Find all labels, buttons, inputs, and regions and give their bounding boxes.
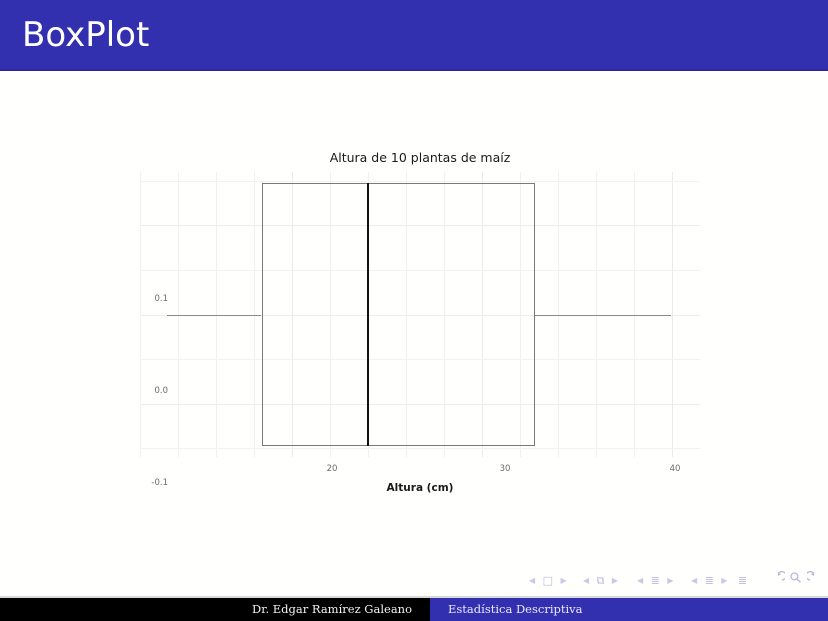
x-tick-label-2: 40 [657,464,693,474]
boxplot-box [262,183,535,447]
slide-footer: Dr. Edgar Ramírez Galeano Estadística De… [0,598,828,621]
boxplot-whisker-high [535,315,672,316]
search-icon[interactable] [789,571,802,589]
nav-next-frame-arrow-icon[interactable]: ▶ [609,571,621,591]
nav-prev-slide-arrow-icon[interactable]: ◀ [526,571,538,591]
page-title: BoxPlot [22,14,149,56]
footer-subject-label: Estadística Descriptiva [448,602,583,616]
x-tick-label-0: 20 [314,464,350,474]
x-tick-label-1: 30 [487,464,523,474]
nav-prev-subsection-arrow-icon[interactable]: ◀ [634,571,646,591]
plot-area [140,172,700,457]
nav-group-slide[interactable]: ◀ □ ▶ [526,571,570,591]
x-axis-label: Altura (cm) [140,482,700,494]
y-tick-label-1: 0.0 [134,386,168,396]
slide-body: Altura de 10 plantas de maíz 0.1 0.0 -0.… [0,71,828,569]
nav-prev-section-arrow-icon[interactable]: ◀ [688,571,700,591]
forward-icon[interactable] [807,571,820,589]
nav-prev-frame-arrow-icon[interactable]: ◀ [580,571,592,591]
slide-nav-icon[interactable]: □ [543,571,553,591]
nav-group-frame[interactable]: ◀ ⧉ ▶ [580,571,621,591]
nav-group-subsection[interactable]: ◀ ≣ ▶ [634,571,676,591]
nav-next-slide-arrow-icon[interactable]: ▶ [557,571,569,591]
presentation-nav-icon[interactable]: ≣ [738,571,747,591]
frame-nav-icon[interactable]: ⧉ [597,571,605,591]
nav-next-subsection-arrow-icon[interactable]: ▶ [664,571,676,591]
back-icon[interactable] [772,571,785,589]
nav-group-history[interactable] [772,571,820,591]
subsection-nav-icon[interactable]: ≣ [651,571,660,591]
boxplot-median-line [367,183,369,447]
section-nav-icon[interactable]: ≣ [705,571,714,591]
nav-next-section-arrow-icon[interactable]: ▶ [718,571,730,591]
chart-title: Altura de 10 plantas de maíz [140,150,700,165]
boxplot-whisker-low [167,315,262,316]
footer-author-label: Dr. Edgar Ramírez Galeano [252,602,412,616]
y-gridline [140,448,700,449]
nav-group-section[interactable]: ◀ ≣ ▶ [688,571,730,591]
slide-header: BoxPlot [0,0,828,71]
beamer-navigation-bar[interactable]: ◀ □ ▶ ◀ ⧉ ▶ ◀ ≣ ▶ ◀ ≣ ▶ ≣ [0,569,828,595]
footer-subject-section: Estadística Descriptiva [430,598,828,621]
boxplot-figure: Altura de 10 plantas de maíz 0.1 0.0 -0.… [140,144,700,494]
footer-author-section: Dr. Edgar Ramírez Galeano [0,598,430,621]
y-tick-label-0: 0.1 [134,294,168,304]
nav-group-presentation[interactable]: ≣ [738,571,747,591]
